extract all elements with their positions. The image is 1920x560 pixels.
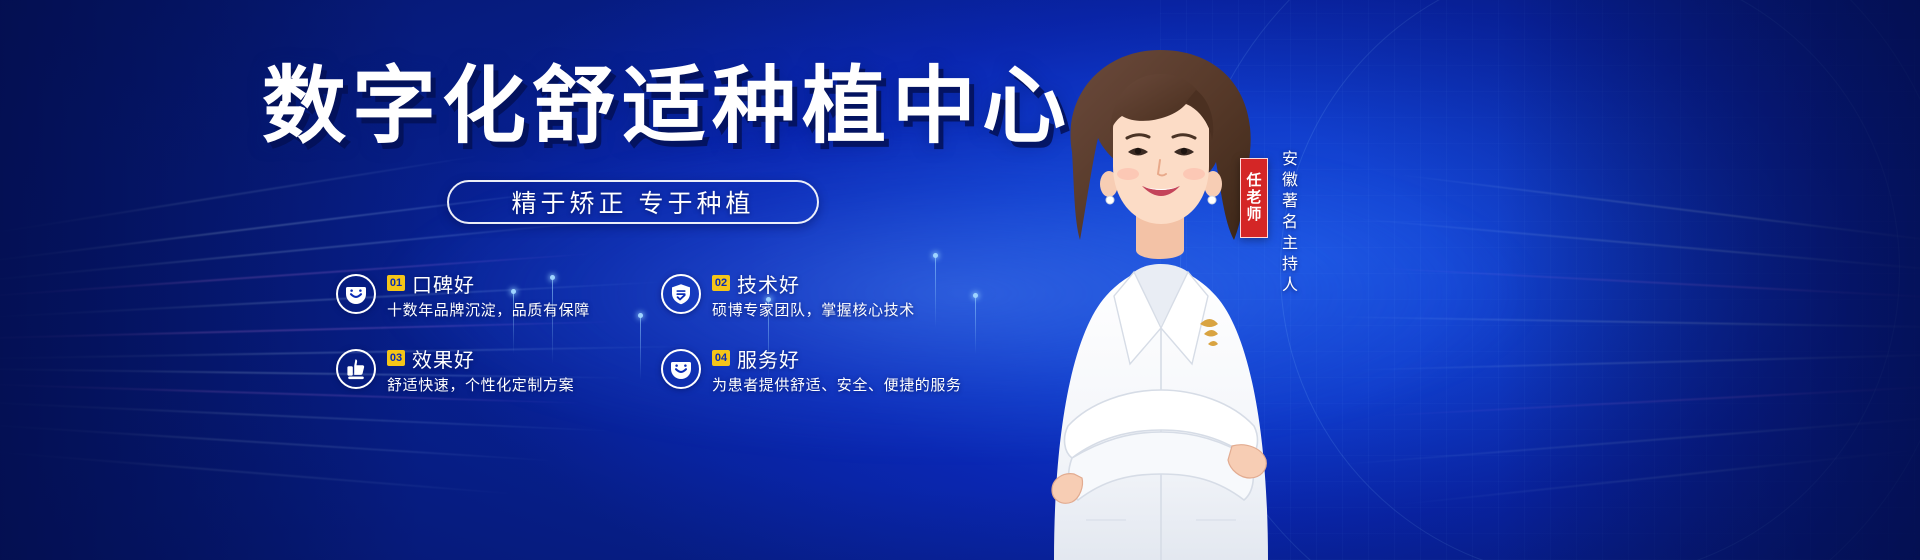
feature-number: 03 [387,350,405,366]
thumbs-up-icon [336,349,376,389]
feature-number: 02 [712,275,730,291]
presenter-name-badge: 任 老 师 [1240,158,1268,238]
feature-number: 01 [387,275,405,291]
presenter-name-char-2: 老 [1246,190,1261,206]
feature-item-1: 01 口碑好 十数年品牌沉淀，品质有保障 [336,272,661,347]
feature-item-4: 04 服务好 为患者提供舒适、安全、便捷的服务 [661,347,956,422]
presenter-title-char-1: 安 [1282,152,1298,168]
presenter-name-char-1: 任 [1246,173,1261,189]
smile-face-icon [336,274,376,314]
feature-title: 技术好 [737,269,800,298]
banner-root: 数字化舒适种植中心 精于矫正 专于种植 01 口碑好 [0,0,1920,560]
presenter-title-vertical: 安 徽 著 名 主 持 人 [1278,152,1302,294]
subtitle-text: 精于矫正 专于种植 [512,184,755,220]
feature-title: 效果好 [412,344,475,373]
doctor-illustration [1010,34,1310,560]
feature-title: 口碑好 [412,269,475,298]
presenter-title-char-2: 徽 [1282,173,1298,189]
feature-item-2: 02 技术好 硕博专家团队，掌握核心技术 [661,272,956,347]
feature-description: 硕博专家团队，掌握核心技术 [712,299,915,320]
shield-check-icon [661,274,701,314]
presenter-title-char-5: 主 [1282,236,1298,252]
presenter-name-char-3: 师 [1246,207,1261,223]
feature-title: 服务好 [737,344,800,373]
presenter-title-char-6: 持 [1282,257,1298,273]
feature-number: 04 [712,350,730,366]
presenter-title-char-4: 名 [1282,215,1298,231]
presenter-title-char-3: 著 [1282,194,1298,210]
feature-item-3: 03 效果好 舒适快速，个性化定制方案 [336,347,661,422]
subtitle-pill: 精于矫正 专于种植 [447,180,819,224]
smile-face-icon [661,349,701,389]
feature-list: 01 口碑好 十数年品牌沉淀，品质有保障 [336,272,956,422]
feature-description: 舒适快速，个性化定制方案 [387,374,574,395]
page-title: 数字化舒适种植中心 [262,62,1022,151]
feature-description: 为患者提供舒适、安全、便捷的服务 [712,374,962,395]
presenter-title-char-7: 人 [1282,278,1298,294]
feature-description: 十数年品牌沉淀，品质有保障 [387,299,590,320]
